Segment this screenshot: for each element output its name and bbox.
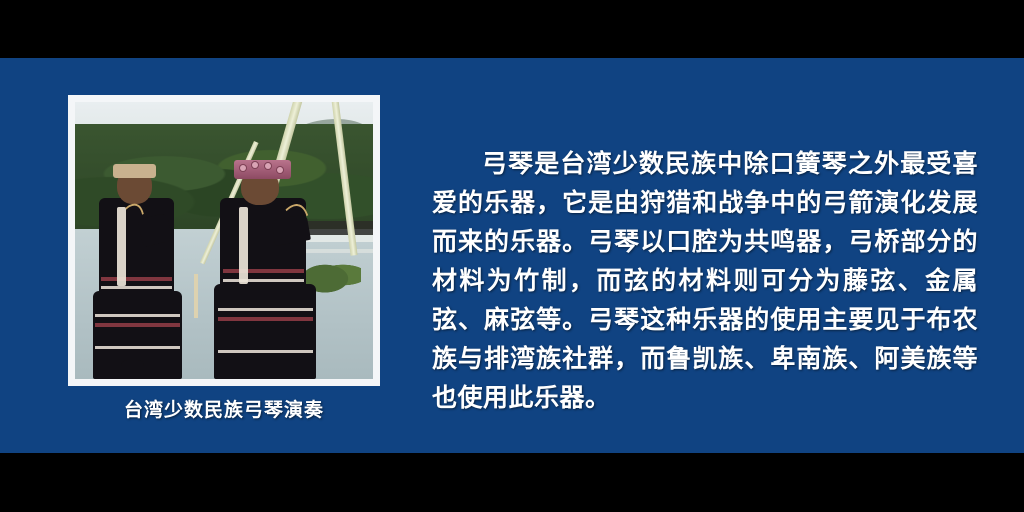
performer-left	[87, 146, 188, 379]
hanging-ornament	[194, 274, 198, 318]
performer-headband	[113, 164, 156, 178]
skirt-stripe	[218, 308, 313, 311]
performer-sash	[239, 207, 248, 283]
photo-image	[75, 102, 373, 379]
skirt-stripe	[95, 314, 180, 317]
skirt-stripe	[95, 323, 180, 327]
headdress-ornament	[240, 165, 246, 171]
performer-leg	[121, 360, 143, 379]
photo-frame	[68, 95, 380, 386]
slide: 台湾少数民族弓琴演奏 弓琴是台湾少数民族中除口簧琴之外最受喜爱的乐器，它是由狩猎…	[0, 0, 1024, 512]
photo-caption: 台湾少数民族弓琴演奏	[68, 395, 380, 422]
headdress-ornament	[277, 167, 283, 173]
slide-content-area: 台湾少数民族弓琴演奏 弓琴是台湾少数民族中除口簧琴之外最受喜爱的乐器，它是由狩猎…	[0, 58, 1024, 453]
skirt-stripe	[95, 346, 180, 349]
letterbox-top	[0, 0, 1024, 58]
torso-stripe	[101, 286, 172, 289]
skirt-stripe	[218, 350, 313, 353]
body-paragraph: 弓琴是台湾少数民族中除口簧琴之外最受喜爱的乐器，它是由狩猎和战争中的弓箭演化发展…	[432, 144, 978, 417]
skirt-stripe	[218, 317, 313, 321]
performer-right	[209, 141, 322, 379]
letterbox-bottom	[0, 453, 1024, 512]
